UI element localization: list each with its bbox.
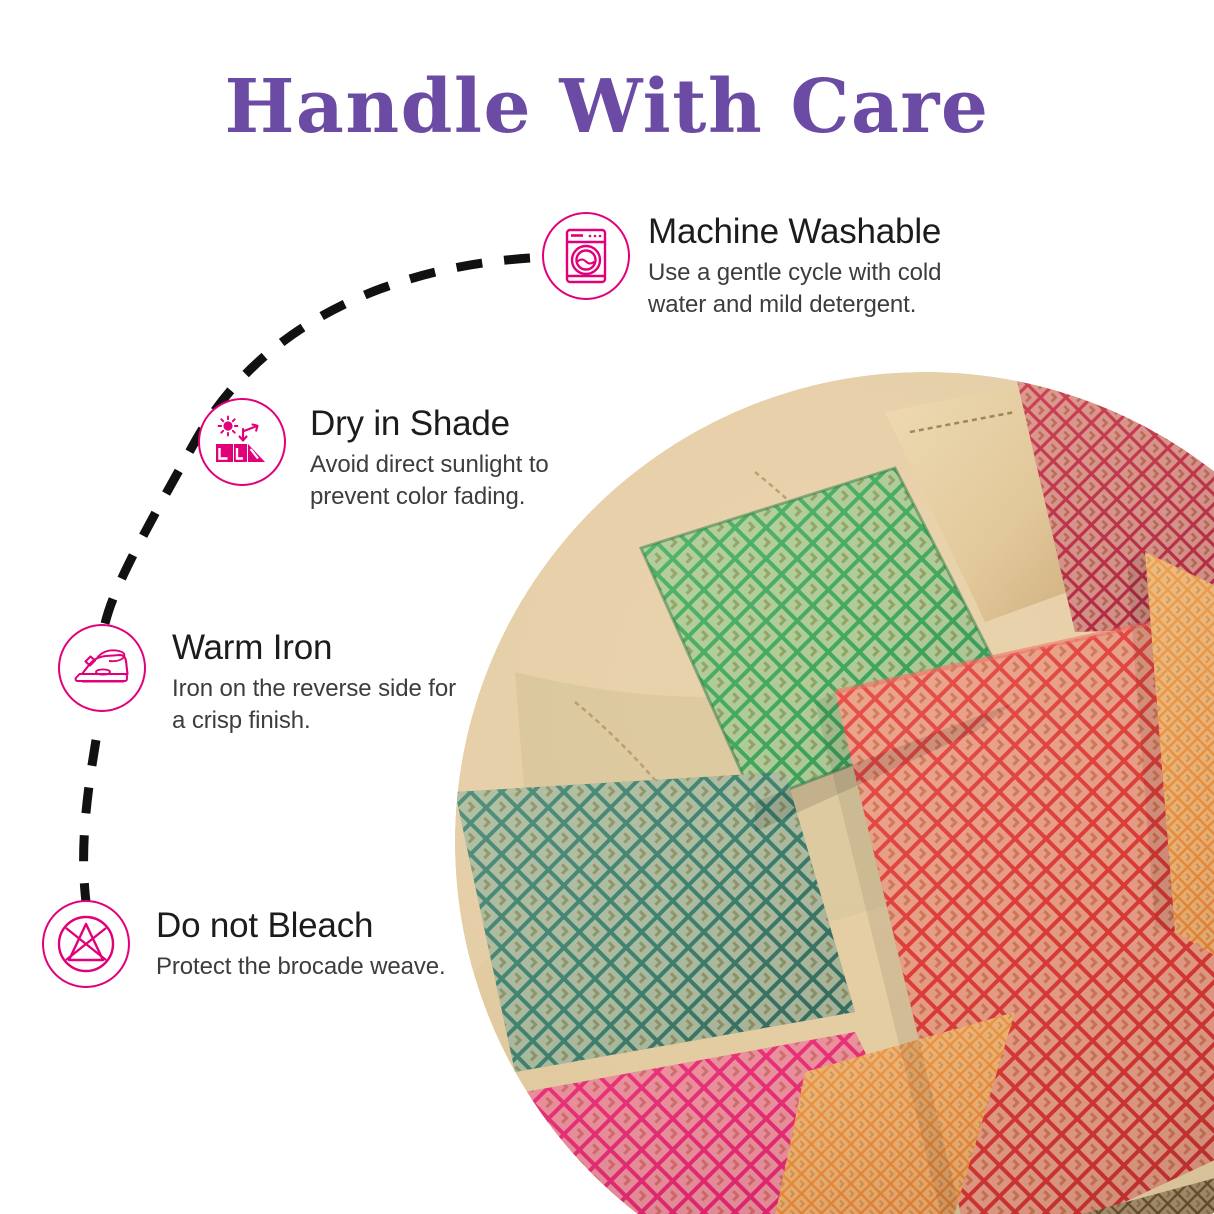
care-item-warm-iron: Warm Iron Iron on the reverse side for a… xyxy=(58,624,472,737)
dry-in-shade-icon xyxy=(198,398,286,486)
care-item-machine-washable: Machine Washable Use a gentle cycle with… xyxy=(542,212,978,321)
washing-machine-icon xyxy=(542,212,630,300)
care-item-description: Iron on the reverse side for a crisp fin… xyxy=(172,673,472,737)
care-item-description: Use a gentle cycle with cold water and m… xyxy=(648,257,978,321)
care-text-block: Dry in Shade Avoid direct sunlight to pr… xyxy=(310,398,610,513)
care-item-description: Protect the brocade weave. xyxy=(156,951,446,983)
care-item-title: Machine Washable xyxy=(648,214,978,251)
care-item-do-not-bleach: Do not Bleach Protect the brocade weave. xyxy=(42,900,446,988)
care-item-title: Warm Iron xyxy=(172,630,472,667)
care-item-title: Dry in Shade xyxy=(310,406,610,443)
page-title: Handle With Care xyxy=(0,64,1214,150)
care-text-block: Warm Iron Iron on the reverse side for a… xyxy=(172,624,472,737)
iron-icon xyxy=(58,624,146,712)
care-text-block: Machine Washable Use a gentle cycle with… xyxy=(648,212,978,321)
care-text-block: Do not Bleach Protect the brocade weave. xyxy=(156,900,446,983)
do-not-bleach-icon xyxy=(42,900,130,988)
care-item-dry-in-shade: Dry in Shade Avoid direct sunlight to pr… xyxy=(198,398,610,513)
care-item-title: Do not Bleach xyxy=(156,908,446,945)
care-item-description: Avoid direct sunlight to prevent color f… xyxy=(310,449,610,513)
infographic-canvas: Handle With Care Machine Washable Use a … xyxy=(0,0,1214,1214)
